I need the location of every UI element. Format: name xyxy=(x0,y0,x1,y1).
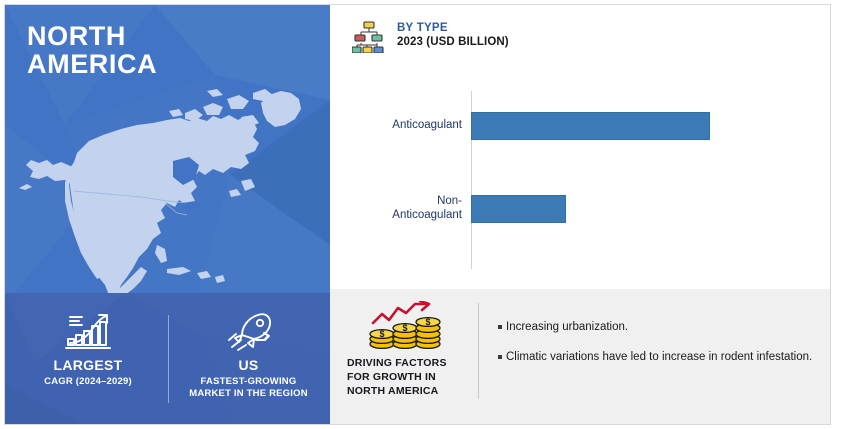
stats-divider xyxy=(168,315,169,403)
chart-panel: BY TYPE 2023 (USD BILLION) Anticoagulant… xyxy=(330,5,831,289)
driver-text: Climatic variations have led to increase… xyxy=(506,350,812,364)
bar-anticoagulant[interactable] xyxy=(471,112,710,140)
hierarchy-icon xyxy=(352,19,386,53)
driving-factors-panel: $ $ $ DRIVING FACTORS FOR GROWTH IN NORT… xyxy=(330,289,831,425)
chart-units-label: 2023 (USD BILLION) xyxy=(397,36,509,50)
north-america-map-icon xyxy=(17,63,317,295)
stat-largest-title: LARGEST xyxy=(9,357,167,373)
stat-largest-subtitle: CAGR (2024–2029) xyxy=(9,376,167,388)
stat-largest-cagr: LARGEST CAGR (2024–2029) xyxy=(9,293,167,425)
rocket-icon xyxy=(222,309,276,353)
bar-chart: Anticoagulant Non- Anticoagulant xyxy=(340,85,820,275)
svg-text:$: $ xyxy=(425,317,430,327)
page-title: NORTH AMERICA xyxy=(27,23,157,79)
chart-header: BY TYPE 2023 (USD BILLION) xyxy=(352,19,509,53)
bullet-icon xyxy=(498,325,502,329)
driving-factors-heading: $ $ $ DRIVING FACTORS FOR GROWTH IN NORT… xyxy=(346,301,464,399)
list-item: Increasing urbanization. xyxy=(498,320,822,334)
region-stats-strip: LARGEST CAGR (2024–2029) xyxy=(5,293,330,425)
stat-fastest-title: US xyxy=(171,357,326,373)
bar-non-anticoagulant[interactable] xyxy=(471,195,566,223)
growth-bar-chart-icon xyxy=(61,309,115,353)
driving-factors-title: DRIVING FACTORS FOR GROWTH IN NORTH AMER… xyxy=(346,357,464,399)
bar-row: Anticoagulant xyxy=(340,112,820,140)
svg-text:$: $ xyxy=(402,323,407,333)
bar-label: Anticoagulant xyxy=(340,119,462,133)
chart-by-label: BY TYPE xyxy=(397,22,509,36)
stat-fastest-subtitle: FASTEST-GROWING MARKET IN THE REGION xyxy=(171,376,326,400)
svg-text:$: $ xyxy=(379,329,384,339)
stat-fastest-growing: US FASTEST-GROWING MARKET IN THE REGION xyxy=(171,293,326,425)
infographic-card: NORTH AMERICA xyxy=(4,4,831,425)
coins-growth-icon: $ $ $ xyxy=(365,301,445,351)
bar-label: Non- Anticoagulant xyxy=(340,195,462,223)
list-item: Climatic variations have led to increase… xyxy=(498,350,822,364)
drivers-divider xyxy=(478,303,479,399)
bar-row: Non- Anticoagulant xyxy=(340,195,820,223)
driver-text: Increasing urbanization. xyxy=(506,320,628,334)
driving-factors-list: Increasing urbanization. Climatic variat… xyxy=(498,320,822,381)
region-panel: NORTH AMERICA xyxy=(5,5,330,425)
bullet-icon xyxy=(498,355,502,359)
